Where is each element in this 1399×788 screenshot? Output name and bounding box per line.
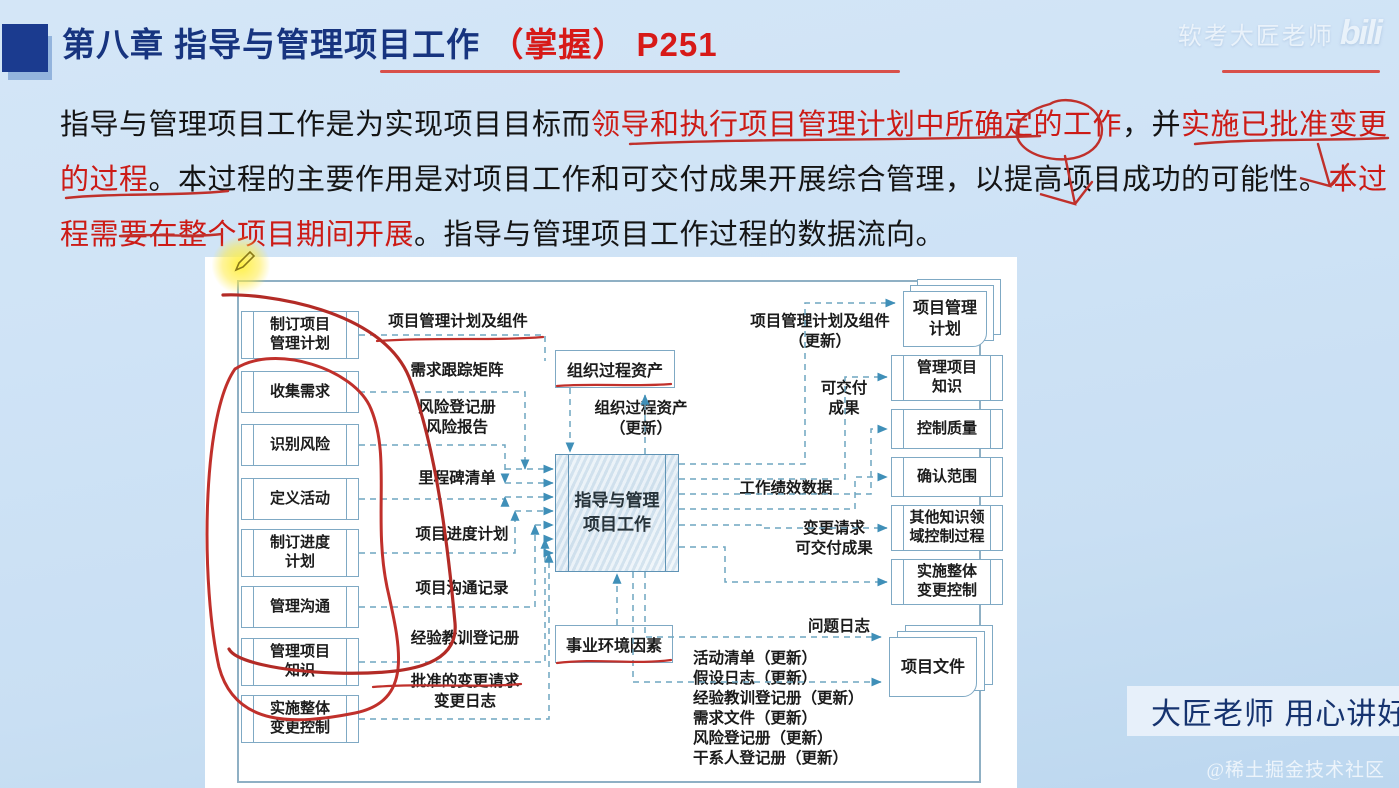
body-paragraph: 指导与管理项目工作是为实现项目目标而领导和执行项目管理计划中所确定的工作，并实施… xyxy=(60,98,1390,263)
bilibili-logo-icon: bili xyxy=(1340,14,1381,53)
channel-name: 软考大匠老师 xyxy=(1178,16,1334,51)
diagram-connectors xyxy=(205,257,1017,788)
promo-overlay-bar: 大匠老师 用心讲好 xyxy=(1127,686,1399,736)
slide-header: 第八章 指导与管理项目工作 （掌握） P251 软考大匠老师 bili xyxy=(0,0,1399,86)
site-watermark: @稀土掘金技术社区 xyxy=(1207,755,1386,782)
title-underline-2 xyxy=(1222,70,1380,73)
page-title: 第八章 指导与管理项目工作 （掌握） P251 xyxy=(62,18,718,66)
para-seg-2-highlight: 领导和执行项目管理计划中所确定的工作 xyxy=(591,109,1122,141)
title-modifier: （掌握） xyxy=(490,26,626,63)
promo-text: 大匠老师 用心讲好 xyxy=(1151,689,1399,733)
title-underline-1 xyxy=(380,70,900,73)
para-seg-1: 指导与管理项目工作是为实现项目目标而 xyxy=(60,109,591,141)
process-data-flow-diagram: 制订项目 管理计划 收集需求 识别风险 定义活动 制订进度 计划 管理沟通 管理… xyxy=(205,257,1017,788)
para-seg-7: 。指导与管理项目工作过程的数据流向。 xyxy=(414,219,945,251)
para-seg-3: ，并 xyxy=(1122,109,1181,141)
page-reference: P251 xyxy=(637,26,718,63)
para-seg-5: 。本过程的主要作用是对项目工作和可交付成果开展综合管理，以提高项目成功的可能性。 xyxy=(149,164,1329,196)
title-main: 第八章 指导与管理项目工作 xyxy=(62,26,480,63)
channel-watermark: 软考大匠老师 bili xyxy=(1178,14,1381,53)
header-accent-square-front xyxy=(2,24,48,72)
